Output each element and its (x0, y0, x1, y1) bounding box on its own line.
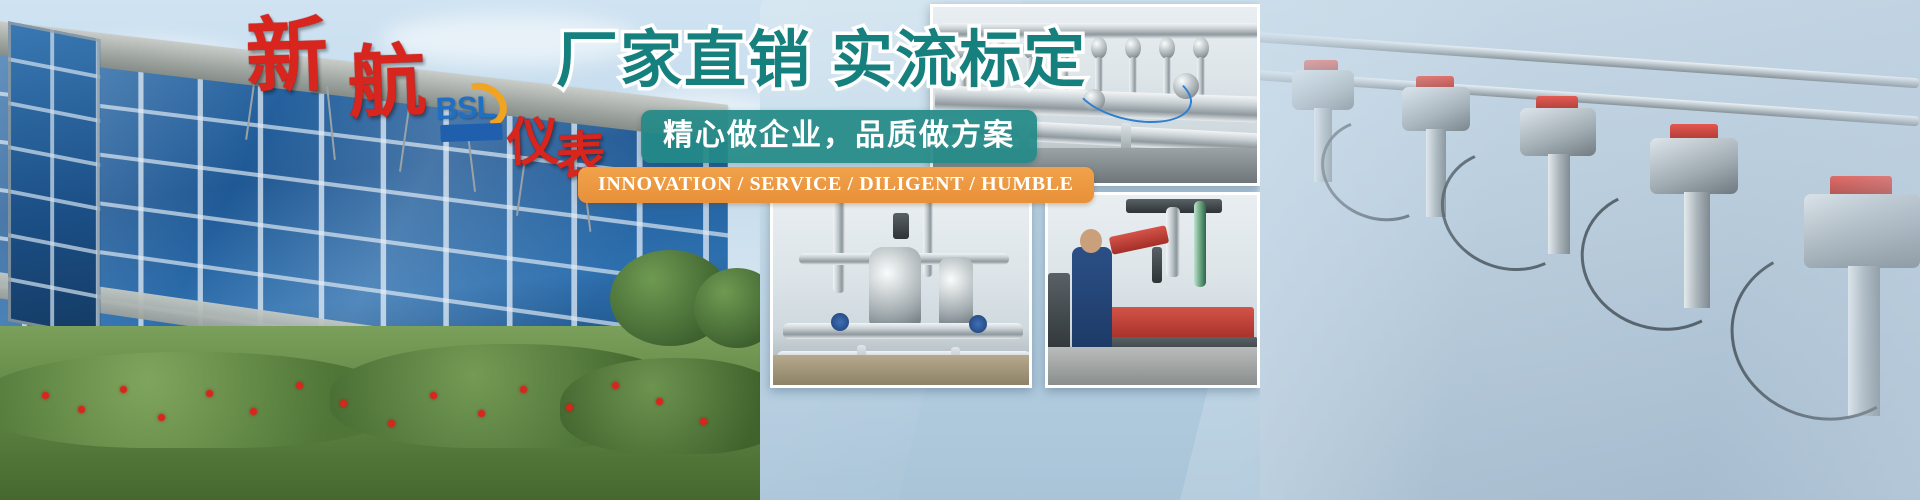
bsl-logo-text: BSL (435, 89, 495, 127)
rooftop-sign-char-1: 新 (245, 15, 330, 100)
flower (656, 398, 663, 405)
mid-pipe (783, 323, 1023, 339)
flower (478, 410, 485, 417)
vertical-riser (833, 197, 845, 293)
worker-head (1080, 229, 1102, 253)
machine-bed (1104, 307, 1254, 341)
flower (250, 408, 257, 415)
flower (612, 382, 619, 389)
flower (388, 420, 395, 427)
flower (700, 418, 707, 425)
flower (340, 400, 347, 407)
bsl-logo-sign: BSL (433, 87, 511, 152)
promo-banner: 新 航 仪 表 BSL (0, 0, 1920, 500)
valve (1091, 37, 1107, 59)
valve-wheel (831, 313, 849, 331)
flower (206, 390, 213, 397)
spindle (1152, 247, 1162, 283)
vertical-riser (923, 197, 933, 277)
flower (520, 386, 527, 393)
flower (78, 406, 85, 413)
bsl-logo-subplate (440, 123, 503, 142)
cnc-machining-worker-photo (1045, 192, 1260, 388)
hedge (560, 358, 760, 454)
tool-cabinet (1048, 273, 1070, 357)
banner-slogan-text: INNOVATION / SERVICE / DILIGENT / HUMBLE (598, 173, 1074, 195)
worker (1072, 247, 1112, 351)
rooftop-sign-char-2: 航 (347, 43, 428, 124)
atmospheric-haze (1260, 0, 1920, 500)
banner-slogan-band: INNOVATION / SERVICE / DILIGENT / HUMBLE (578, 167, 1094, 203)
valve (1193, 37, 1209, 59)
flower (296, 382, 303, 389)
banner-headline: 厂家直销 实流标定 (556, 28, 1087, 93)
flower (158, 414, 165, 421)
tank-vessel (939, 257, 973, 331)
green-guide-rail (1194, 201, 1206, 287)
valve-wheel (969, 315, 987, 333)
drop-pipe (1197, 57, 1205, 99)
tank-vessel (869, 247, 921, 333)
flower (120, 386, 127, 393)
flower (42, 392, 49, 399)
banner-subtitle-band: 精心做企业，品质做方案 (641, 110, 1037, 163)
pipeline-test-bench-photo (770, 192, 1032, 388)
flow-meter-instrument-row-photo (1260, 0, 1920, 500)
valve (1159, 37, 1175, 59)
control-box (893, 213, 909, 239)
flower (430, 392, 437, 399)
valve (1125, 37, 1141, 59)
banner-subtitle-text: 精心做企业，品质做方案 (663, 119, 1015, 152)
building-corner-tower (8, 21, 100, 339)
workshop-floor (773, 355, 1029, 385)
rooftop-sign-char-3: 仪 (506, 117, 560, 171)
workshop-floor (1048, 347, 1257, 385)
flower (566, 404, 573, 411)
